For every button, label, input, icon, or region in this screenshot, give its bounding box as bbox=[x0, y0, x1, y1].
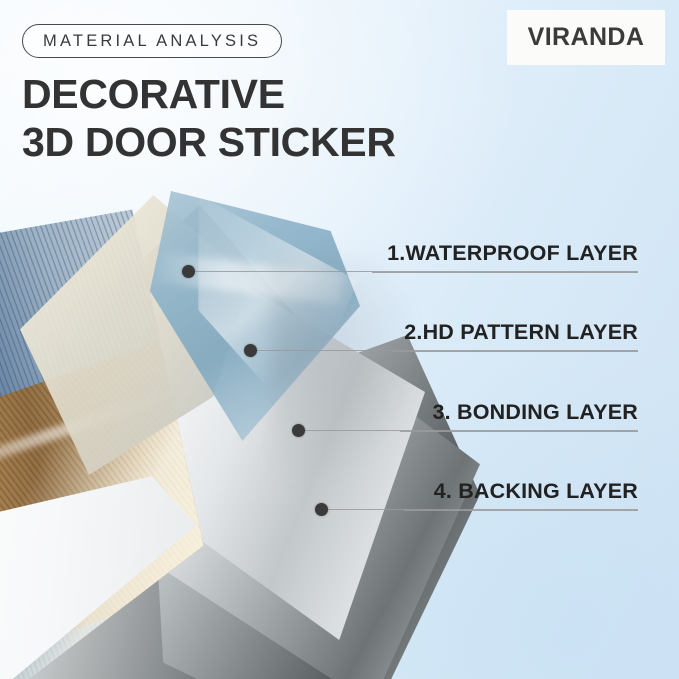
callout-label-2: 2.HD PATTERN LAYER bbox=[404, 320, 638, 345]
product-infographic: MATERIAL ANALYSIS DECORATIVE 3D DOOR STI… bbox=[0, 0, 679, 679]
callout-dot-3 bbox=[292, 424, 305, 437]
brand-logo: VIRANDA bbox=[507, 10, 665, 65]
page-title-line-2: 3D DOOR STICKER bbox=[22, 118, 396, 166]
callout-dot-2 bbox=[244, 344, 257, 357]
brand-logo-text: VIRANDA bbox=[528, 23, 645, 52]
callout-label-3: 3. BONDING LAYER bbox=[433, 400, 639, 425]
callout-dot-4 bbox=[315, 503, 328, 516]
callout-underline-4 bbox=[404, 510, 638, 511]
curl-drop-shadow bbox=[270, 255, 420, 485]
callout-underline-3 bbox=[400, 431, 638, 432]
eyebrow-label: MATERIAL ANALYSIS bbox=[43, 32, 261, 51]
page-title-line-1: DECORATIVE bbox=[22, 70, 285, 118]
callout-underline-2 bbox=[392, 351, 638, 352]
callout-dot-1 bbox=[182, 265, 195, 278]
callout-label-4: 4. BACKING LAYER bbox=[434, 479, 638, 504]
callout-label-1: 1.WATERPROOF LAYER bbox=[387, 241, 638, 266]
callout-underline-1 bbox=[372, 272, 638, 273]
eyebrow-badge: MATERIAL ANALYSIS bbox=[22, 24, 282, 58]
